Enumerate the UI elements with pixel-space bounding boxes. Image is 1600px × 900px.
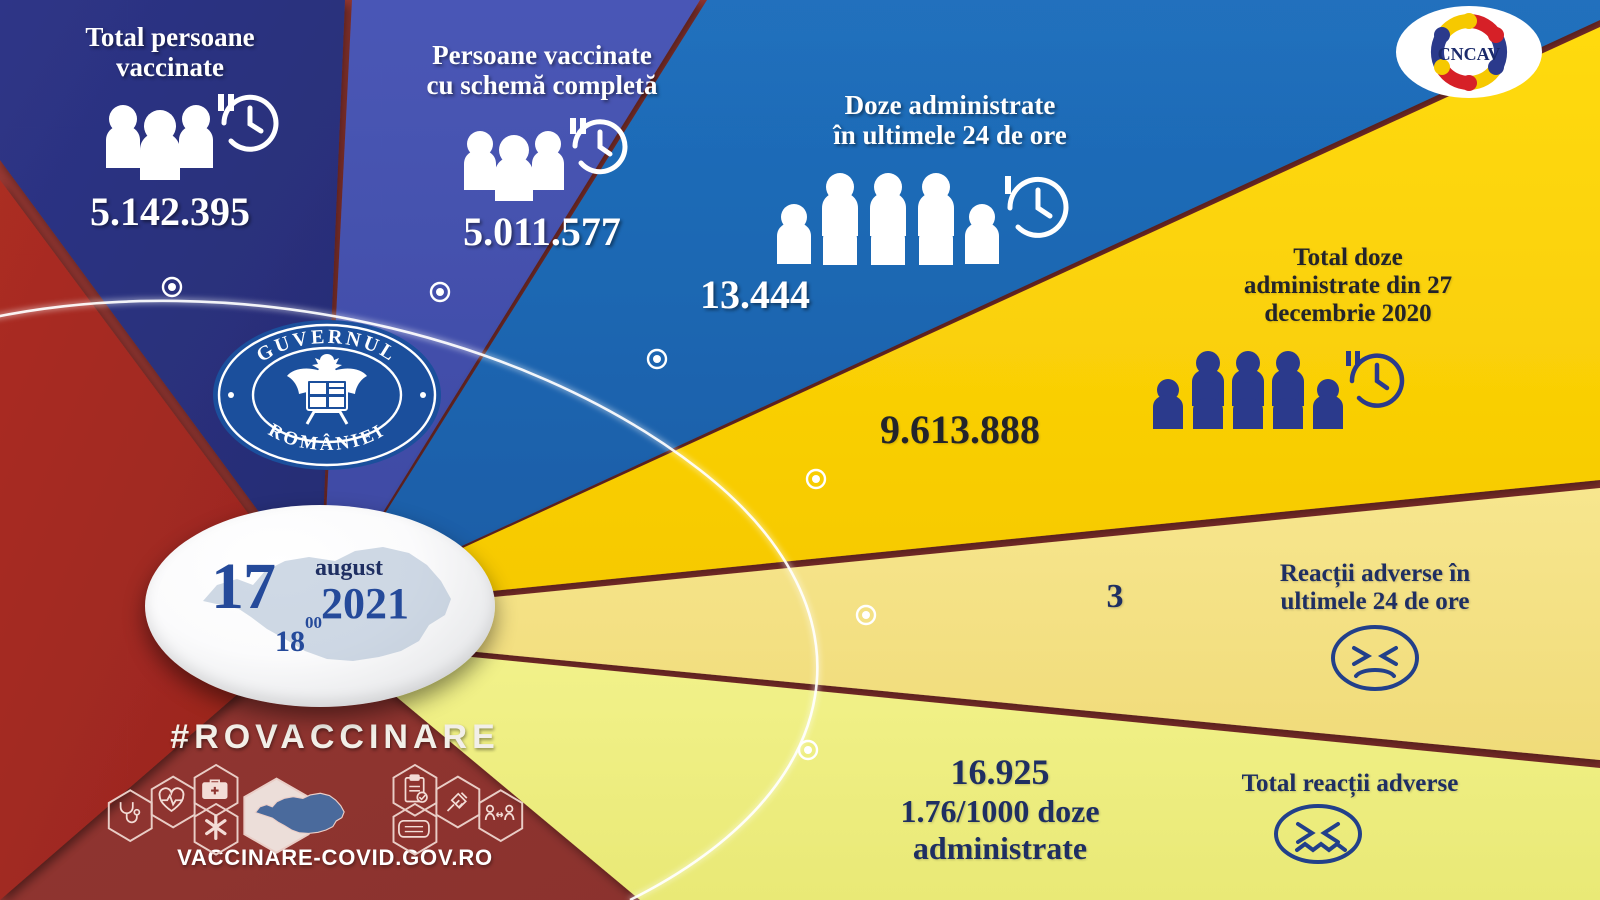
sad-face-icon: [1190, 624, 1560, 692]
guvernul-romaniei-seal: GUVERNUL ROMÂNIEI: [211, 318, 444, 473]
stat-title-line1: Doze administrate: [845, 90, 1056, 120]
people-clock-icon: [10, 92, 330, 180]
heart-pulse-icon: [159, 788, 183, 811]
star-of-life-icon: [207, 816, 225, 839]
infographic-canvas: Total persoane vaccinate 5.142.395 Perso…: [0, 0, 1600, 900]
stethoscope-icon: [121, 802, 140, 822]
stat-title-line2: în ultimele 24 de ore: [833, 120, 1066, 150]
stat-value-reactii-24h: 3: [1060, 578, 1170, 616]
rovaccinare-branding: #ROVACCINARE: [95, 718, 575, 871]
stat-reactii-adverse-24-ore: Reacții adverse în ultimele 24 de ore: [1190, 560, 1560, 692]
stat-title-line2: administrate din 27: [1244, 272, 1452, 299]
stat-value-total-reactii: 16.925 1.76/1000 doze administrate: [845, 752, 1155, 866]
stat-value-total-doze: 9.613.888: [830, 406, 1090, 453]
stat-value: 5.011.577: [352, 208, 732, 255]
stat-title-line1: Total doze: [1293, 244, 1403, 271]
vaccine-syringe-icon: [448, 793, 467, 811]
stat-title-line1: Reacții adverse în: [1280, 560, 1470, 587]
stat-value: 13.444: [700, 271, 1200, 318]
date-time-hour: 18: [275, 625, 305, 658]
stat-total-reactii-adverse: Total reacții adverse: [1130, 770, 1570, 866]
rovaccinare-hashtag: #ROVACCINARE: [95, 718, 575, 757]
stat-title-line3: decembrie 2020: [1264, 300, 1431, 327]
crowd-clock-icon: [700, 162, 1200, 267]
stat-title-line2: ultimele 24 de ore: [1280, 588, 1469, 615]
clipboard-check-icon: [405, 775, 426, 802]
date-badge: 17 august 2021 1800: [145, 505, 495, 707]
face-mask-icon: [399, 821, 429, 837]
stat-title-line2: cu schemă completă: [427, 70, 658, 100]
people-distance-icon: [486, 806, 514, 820]
date-time: 1800: [275, 625, 322, 659]
stat-persoane-schema-completa: Persoane vaccinate cu schemă completă 5.…: [352, 40, 732, 255]
dizzy-face-icon: [1130, 804, 1570, 866]
date-day: 17: [211, 549, 275, 625]
stat-doze-ultimele-24-ore: Doze administrate în ultimele 24 de ore …: [700, 90, 1200, 318]
stat-title-line1: Total reacții adverse: [1242, 770, 1459, 797]
date-time-minutes: 00: [305, 613, 322, 632]
stat-total-doze-administrate: Total doze administrate din 27 decembrie…: [1148, 244, 1548, 328]
cncav-logo: CNCAV: [1394, 4, 1544, 100]
first-aid-kit-icon: [203, 780, 227, 798]
stat-title-line1: Persoane vaccinate: [432, 40, 652, 70]
hexagon-icon-row: [95, 763, 575, 841]
rovaccinare-url: VACCINARE-COVID.GOV.RO: [95, 845, 575, 871]
stat-value: 16.925: [845, 752, 1155, 793]
crowd-clock-icon: [1100, 345, 1430, 430]
stat-title-line1: Total persoane: [85, 22, 254, 52]
cncav-label: CNCAV: [1438, 44, 1501, 64]
stat-total-persoane-vaccinate: Total persoane vaccinate 5.142.395: [10, 22, 330, 235]
stat-value: 5.142.395: [10, 188, 330, 235]
people-clock-icon: [352, 116, 732, 202]
stat-title-line2: vaccinate: [116, 52, 224, 82]
stat-value-rate: 1.76/1000 doze: [845, 793, 1155, 829]
date-year: 2021: [321, 578, 409, 629]
stat-value-rate-unit: administrate: [845, 830, 1155, 866]
